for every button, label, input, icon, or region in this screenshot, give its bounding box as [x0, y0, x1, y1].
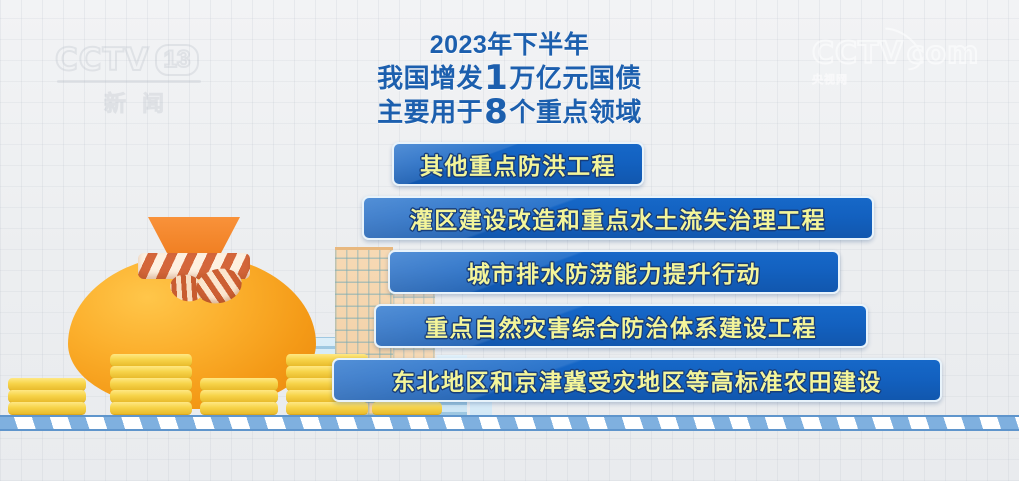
bar-chart: 其他重点防洪工程 灌区建设改造和重点水土流失治理工程 城市排水防涝能力提升行动 … [0, 140, 1019, 410]
bar-label: 灌区建设改造和重点水土流失治理工程 [410, 201, 827, 235]
page-title: 2023年下半年 我国增发1万亿元国债 主要用于8个重点领域 [0, 30, 1019, 129]
bar-item: 重点自然灾害综合防治体系建设工程 [374, 304, 868, 348]
title-highlight-number-8: 8 [484, 92, 508, 132]
title-line-3: 主要用于8个重点领域 [0, 95, 1019, 129]
title-line-1: 2023年下半年 [0, 30, 1019, 61]
bar-item: 城市排水防涝能力提升行动 [388, 250, 840, 294]
bar-label: 重点自然灾害综合防治体系建设工程 [425, 309, 817, 343]
bar-item: 其他重点防洪工程 [392, 142, 644, 186]
title-line-3-pre: 主要用于 [377, 97, 483, 127]
bar-label: 东北地区和京津冀受灾地区等高标准农田建设 [392, 363, 882, 397]
title-line-2-pre: 我国增发 [377, 63, 483, 93]
bar-label: 其他重点防洪工程 [420, 147, 616, 181]
infographic-stage: CCTV 13 新闻 CCTV com 央视网 2023年下半年 我国增发1万亿… [0, 0, 1019, 481]
bar-label: 城市排水防涝能力提升行动 [467, 255, 761, 289]
title-line-3-post: 个重点领域 [509, 97, 642, 127]
bar-item: 东北地区和京津冀受灾地区等高标准农田建设 [332, 358, 942, 402]
ground-stripe-band [0, 415, 1019, 431]
title-line-2-post: 万亿元国债 [509, 63, 642, 93]
bar-item: 灌区建设改造和重点水土流失治理工程 [362, 196, 874, 240]
title-line-2: 我国增发1万亿元国债 [0, 61, 1019, 95]
